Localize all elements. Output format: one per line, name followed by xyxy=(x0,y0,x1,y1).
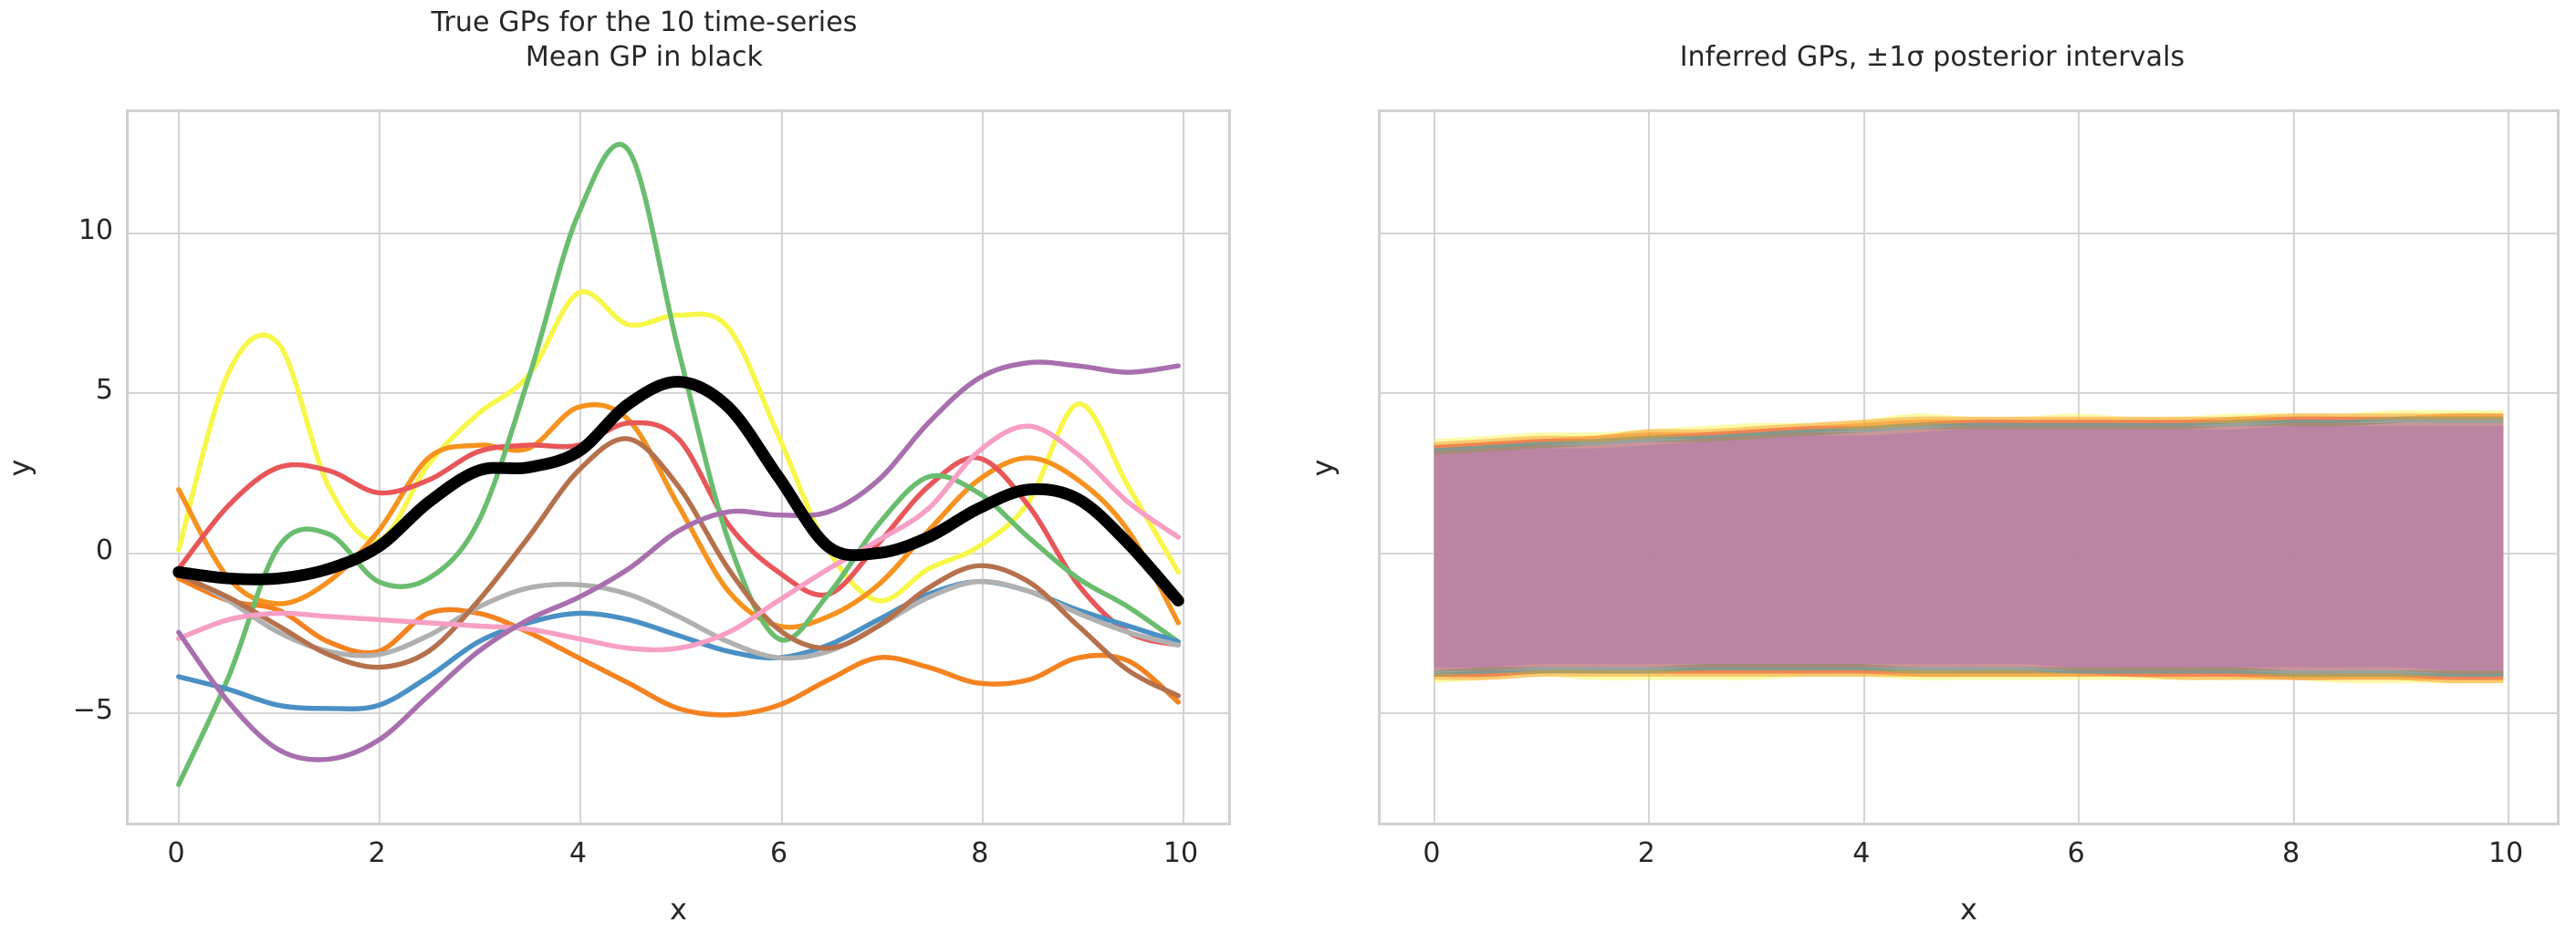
x-tick-label: 0 xyxy=(167,840,184,867)
x-tick-label: 8 xyxy=(2282,840,2300,867)
posterior-band-band-10 xyxy=(1434,426,2504,670)
gp-curve-gp-5 xyxy=(179,144,1178,784)
left-x-axis-label: x xyxy=(670,895,687,924)
gp-curve-gp-1 xyxy=(179,292,1178,601)
right-plot-area xyxy=(1378,109,2560,825)
y-tick-label: 10 xyxy=(47,217,113,244)
right-panel-title: Inferred GPs, ±1σ posterior intervals xyxy=(1288,40,2576,75)
x-tick-label: 6 xyxy=(770,840,787,867)
gp-curve-gp-10 xyxy=(179,362,1178,760)
gp-curve-gp-6 xyxy=(179,582,1178,710)
y-tick-label: −5 xyxy=(47,697,113,724)
figure-canvas: True GPs for the 10 time-series Mean GP … xyxy=(0,0,2576,933)
x-tick-label: 4 xyxy=(1852,840,1870,867)
left-panel-title: True GPs for the 10 time-series Mean GP … xyxy=(0,5,1288,75)
x-tick-label: 8 xyxy=(971,840,988,867)
left-plot-area xyxy=(126,109,1231,825)
x-tick-label: 4 xyxy=(569,840,587,867)
x-tick-label: 10 xyxy=(1163,840,1198,867)
x-tick-label: 6 xyxy=(2068,840,2085,867)
x-tick-label: 2 xyxy=(1638,840,1655,867)
y-tick-label: 5 xyxy=(47,377,113,404)
left-plot-inner xyxy=(129,112,1228,823)
y-tick-label: 0 xyxy=(47,537,113,565)
right-y-axis-label: y xyxy=(1308,459,1337,476)
left-y-axis-label: y xyxy=(5,459,34,476)
right-plot-inner xyxy=(1381,112,2557,823)
right-x-axis-label: x xyxy=(1960,895,1977,924)
x-tick-label: 2 xyxy=(369,840,386,867)
left-curves-layer xyxy=(129,112,1228,823)
right-bands-layer xyxy=(1381,112,2557,823)
panel-true-gps: True GPs for the 10 time-series Mean GP … xyxy=(0,0,1288,933)
x-tick-label: 0 xyxy=(1423,840,1440,867)
x-tick-label: 10 xyxy=(2488,840,2523,867)
